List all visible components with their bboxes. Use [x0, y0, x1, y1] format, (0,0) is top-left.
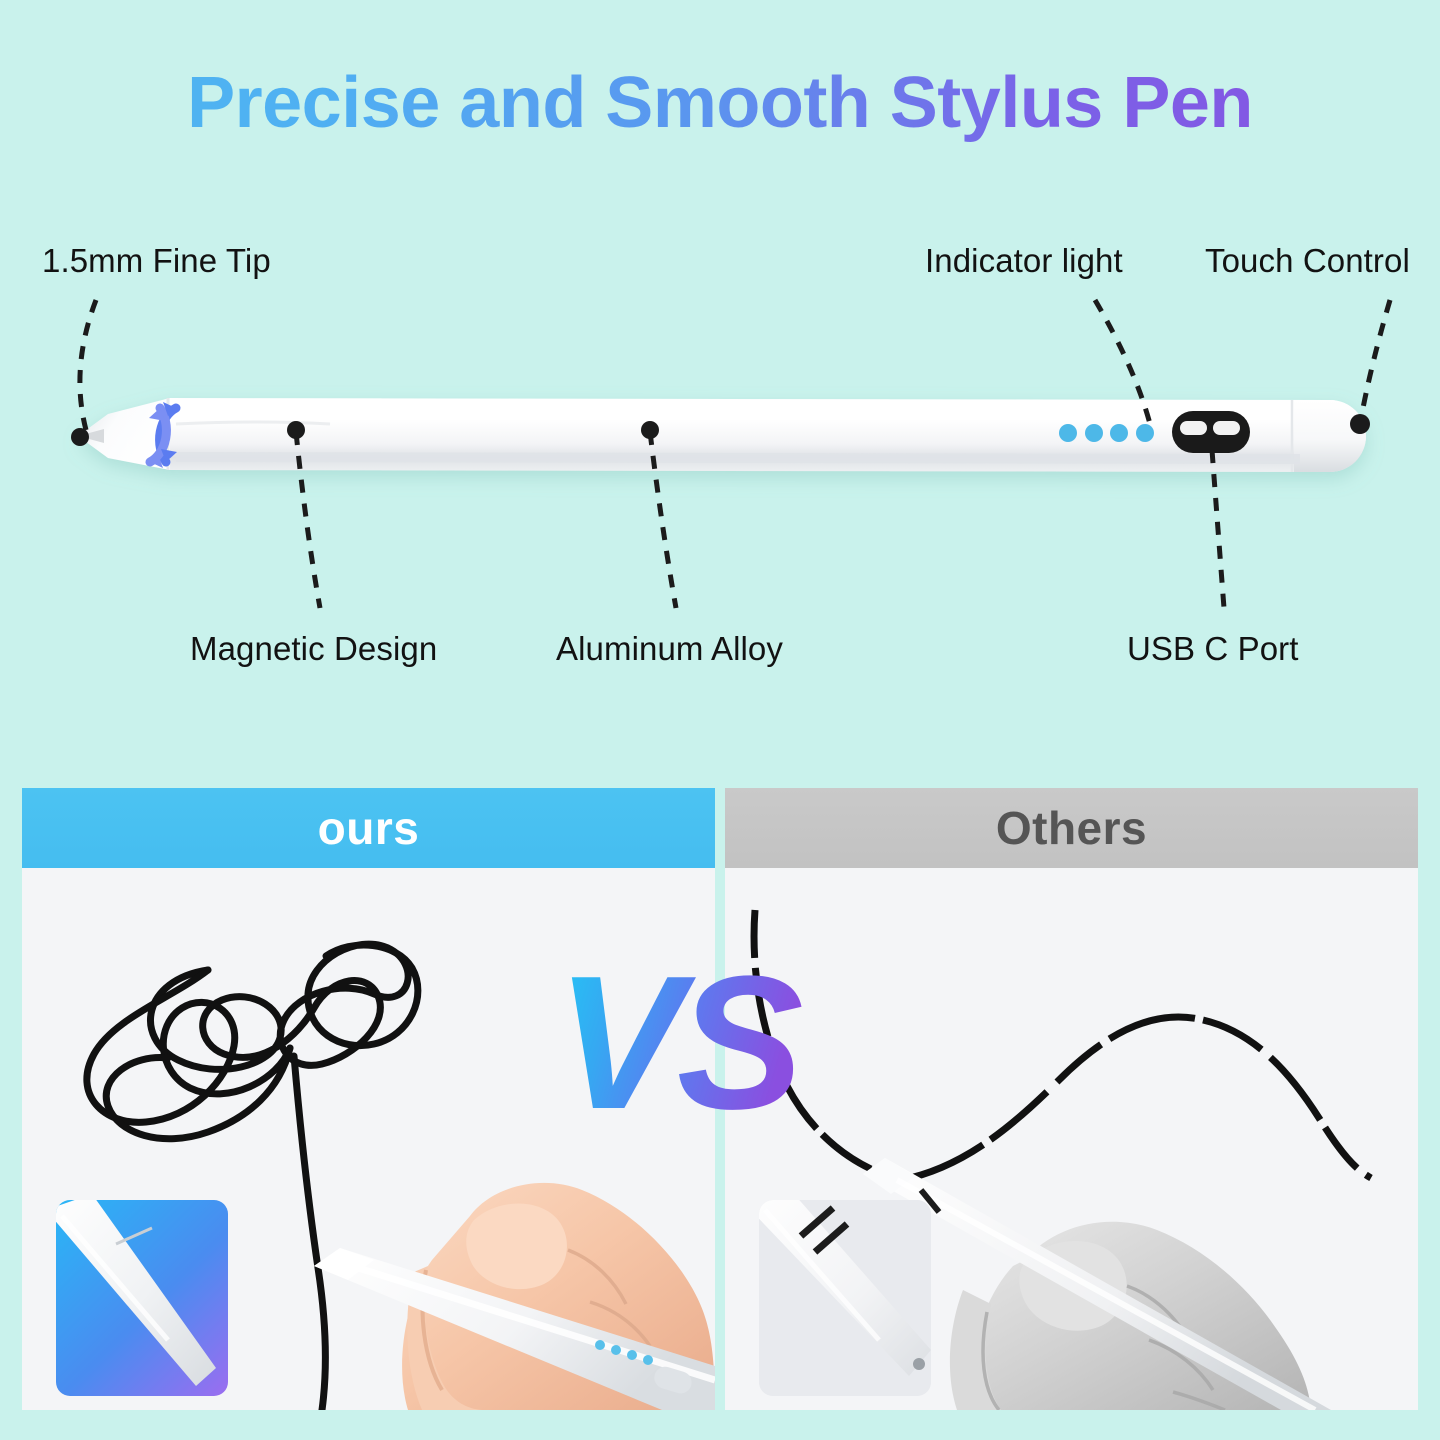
leader-aluminum	[650, 432, 676, 608]
leader-dot-markers	[71, 414, 1370, 446]
leader-indicator	[1095, 300, 1150, 424]
inset-thick-tip-closeup	[759, 1200, 931, 1396]
panel-header-others: Others	[725, 788, 1418, 868]
panel-body-ours	[22, 868, 715, 1410]
panel-body-others	[725, 868, 1418, 1410]
comparison-panel-others: Others	[725, 788, 1418, 1410]
leader-magnetic	[296, 432, 320, 608]
hero-product-section: 1.5mm Fine Tip Indicator light Touch Con…	[0, 0, 1440, 760]
leader-usbc	[1212, 450, 1224, 608]
callout-label-magnetic-design: Magnetic Design	[190, 630, 437, 668]
callout-label-fine-tip: 1.5mm Fine Tip	[42, 242, 271, 280]
callout-label-indicator-light: Indicator light	[925, 242, 1123, 280]
inset-fine-tip-closeup	[56, 1200, 228, 1396]
callout-label-touch-control: Touch Control	[1205, 242, 1410, 280]
leader-fine-tip	[80, 300, 96, 430]
callout-label-usb-c-port: USB C Port	[1127, 630, 1299, 668]
leader-touch-control	[1360, 300, 1390, 424]
inset-thumbnail-others	[759, 1200, 931, 1396]
inset-thumbnail-ours	[56, 1200, 228, 1396]
comparison-section: ours	[0, 788, 1440, 1418]
callout-label-aluminum-alloy: Aluminum Alloy	[556, 630, 783, 668]
comparison-panel-ours: ours	[22, 788, 715, 1410]
panel-header-ours: ours	[22, 788, 715, 868]
